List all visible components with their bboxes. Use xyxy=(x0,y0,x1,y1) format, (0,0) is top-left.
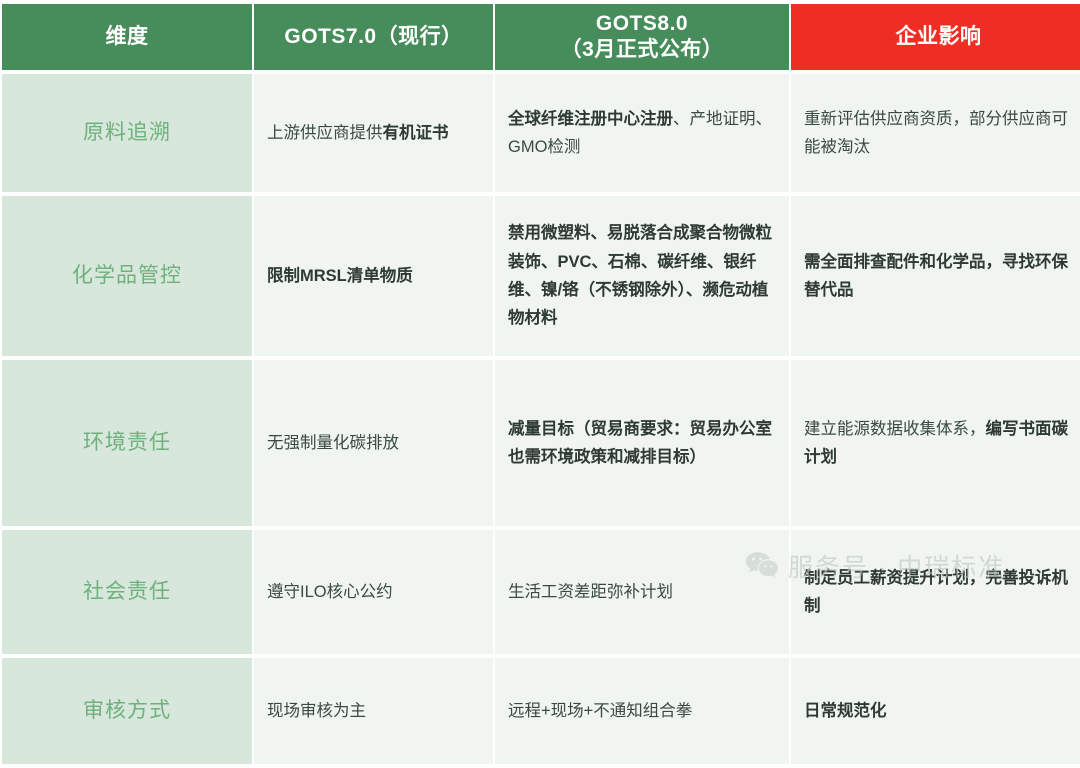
cell-dimension: 审核方式 xyxy=(2,658,252,764)
cell-gots7: 无强制量化碳排放 xyxy=(254,360,493,526)
column-header-dimension: 维度 xyxy=(2,4,252,70)
cell-text-emphasis: 日常规范化 xyxy=(804,702,887,720)
cell-impact: 重新评估供应商资质，部分供应商可能被淘汰 xyxy=(791,74,1080,192)
cell-text: 上游供应商提供 xyxy=(267,124,383,142)
table-row: 化学品管控限制MRSL清单物质禁用微塑料、易脱落合成聚合物微粒装饰、PVC、石棉… xyxy=(2,196,1080,356)
column-header-line: （3月正式公布） xyxy=(503,37,781,63)
cell-dimension: 环境责任 xyxy=(2,360,252,526)
table-header: 维度 GOTS7.0（现行） GOTS8.0（3月正式公布） 企业影响 xyxy=(2,4,1080,70)
gots-comparison-table: 维度 GOTS7.0（现行） GOTS8.0（3月正式公布） 企业影响 原料追溯… xyxy=(0,0,1080,768)
table-row: 原料追溯上游供应商提供有机证书全球纤维注册中心注册、产地证明、GMO检测重新评估… xyxy=(2,74,1080,192)
cell-text: 建立能源数据收集体系， xyxy=(804,420,986,438)
cell-dimension: 原料追溯 xyxy=(2,74,252,192)
cell-text: 无强制量化碳排放 xyxy=(267,434,399,452)
column-header-line: 企业影响 xyxy=(799,24,1078,50)
column-header-gots8: GOTS8.0（3月正式公布） xyxy=(495,4,789,70)
cell-gots8: 减量目标（贸易商要求：贸易办公室也需环境政策和减排目标） xyxy=(495,360,789,526)
header-row: 维度 GOTS7.0（现行） GOTS8.0（3月正式公布） 企业影响 xyxy=(2,4,1080,70)
cell-gots8: 生活工资差距弥补计划 xyxy=(495,530,789,654)
cell-impact: 需全面排查配件和化学品，寻找环保替代品 xyxy=(791,196,1080,356)
cell-text: 遵守ILO核心公约 xyxy=(267,583,393,601)
table-row: 社会责任遵守ILO核心公约生活工资差距弥补计划制定员工薪资提升计划，完善投诉机制 xyxy=(2,530,1080,654)
cell-gots7: 现场审核为主 xyxy=(254,658,493,764)
column-header-line: GOTS8.0 xyxy=(503,11,781,37)
cell-impact: 建立能源数据收集体系，编写书面碳计划 xyxy=(791,360,1080,526)
cell-text-emphasis: 有机证书 xyxy=(383,124,449,142)
cell-gots8: 全球纤维注册中心注册、产地证明、GMO检测 xyxy=(495,74,789,192)
cell-text-emphasis: 需全面排查配件和化学品，寻找环保替代品 xyxy=(804,253,1068,299)
cell-text: 生活工资差距弥补计划 xyxy=(508,583,673,601)
cell-text: 现场审核为主 xyxy=(267,702,366,720)
cell-gots7: 上游供应商提供有机证书 xyxy=(254,74,493,192)
cell-text: 远程+现场+不通知组合拳 xyxy=(508,702,692,720)
table-row: 审核方式现场审核为主远程+现场+不通知组合拳日常规范化 xyxy=(2,658,1080,764)
table-body: 原料追溯上游供应商提供有机证书全球纤维注册中心注册、产地证明、GMO检测重新评估… xyxy=(2,74,1080,764)
column-header-line: GOTS7.0（现行） xyxy=(262,24,485,50)
column-header-gots7: GOTS7.0（现行） xyxy=(254,4,493,70)
cell-text-emphasis: 减量目标（贸易商要求：贸易办公室也需环境政策和减排目标） xyxy=(508,420,772,466)
cell-dimension: 社会责任 xyxy=(2,530,252,654)
cell-gots8: 禁用微塑料、易脱落合成聚合物微粒装饰、PVC、石棉、碳纤维、银纤维、镍/铬（不锈… xyxy=(495,196,789,356)
cell-gots8: 远程+现场+不通知组合拳 xyxy=(495,658,789,764)
cell-impact: 日常规范化 xyxy=(791,658,1080,764)
cell-gots7: 遵守ILO核心公约 xyxy=(254,530,493,654)
cell-text-emphasis: 禁用微塑料、易脱落合成聚合物微粒装饰、PVC、石棉、碳纤维、银纤维、镍/铬（不锈… xyxy=(508,224,772,327)
column-header-impact: 企业影响 xyxy=(791,4,1080,70)
table-container: 维度 GOTS7.0（现行） GOTS8.0（3月正式公布） 企业影响 原料追溯… xyxy=(0,0,1080,768)
cell-impact: 制定员工薪资提升计划，完善投诉机制 xyxy=(791,530,1080,654)
cell-text-emphasis: 限制MRSL清单物质 xyxy=(267,267,413,285)
table-row: 环境责任无强制量化碳排放减量目标（贸易商要求：贸易办公室也需环境政策和减排目标）… xyxy=(2,360,1080,526)
cell-gots7: 限制MRSL清单物质 xyxy=(254,196,493,356)
cell-text-emphasis: 全球纤维注册中心注册 xyxy=(508,110,673,128)
cell-text: 重新评估供应商资质，部分供应商可能被淘汰 xyxy=(804,110,1068,156)
cell-text-emphasis: 制定员工薪资提升计划，完善投诉机制 xyxy=(804,569,1068,615)
cell-dimension: 化学品管控 xyxy=(2,196,252,356)
column-header-line: 维度 xyxy=(10,24,244,50)
